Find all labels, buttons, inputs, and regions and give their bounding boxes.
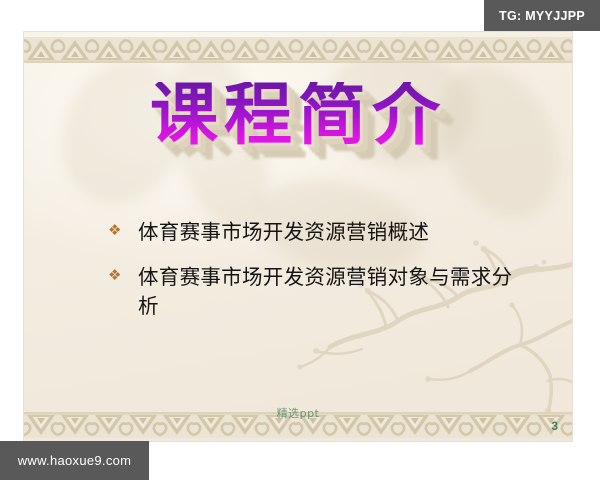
slide-title-block: 课程简介 — [24, 82, 572, 150]
diamond-bullet-icon: ❖ — [108, 218, 138, 241]
ppt-source-watermark: 精选ppt — [24, 405, 572, 421]
list-item[interactable]: ❖ 体育赛事市场开发资源营销对象与需求分析 — [108, 263, 528, 321]
diamond-bullet-icon: ❖ — [108, 263, 138, 286]
decorative-border-top — [24, 37, 572, 63]
list-item-label: 体育赛事市场开发资源营销对象与需求分析 — [138, 263, 528, 321]
bullet-list: ❖ 体育赛事市场开发资源营销概述 ❖ 体育赛事市场开发资源营销对象与需求分析 — [108, 218, 528, 337]
telegram-watermark-badge: TG: MYYJJPP — [484, 0, 600, 31]
list-item[interactable]: ❖ 体育赛事市场开发资源营销概述 — [108, 218, 528, 247]
presentation-slide: 课程简介 ❖ 体育赛事市场开发资源营销概述 ❖ 体育赛事市场开发资源营销对象与需… — [24, 32, 572, 441]
slide-title: 课程简介 — [150, 82, 446, 150]
list-item-label: 体育赛事市场开发资源营销概述 — [138, 218, 528, 247]
website-watermark-badge: www.haoxue9.com — [0, 441, 149, 480]
page-number: 3 — [551, 419, 558, 433]
